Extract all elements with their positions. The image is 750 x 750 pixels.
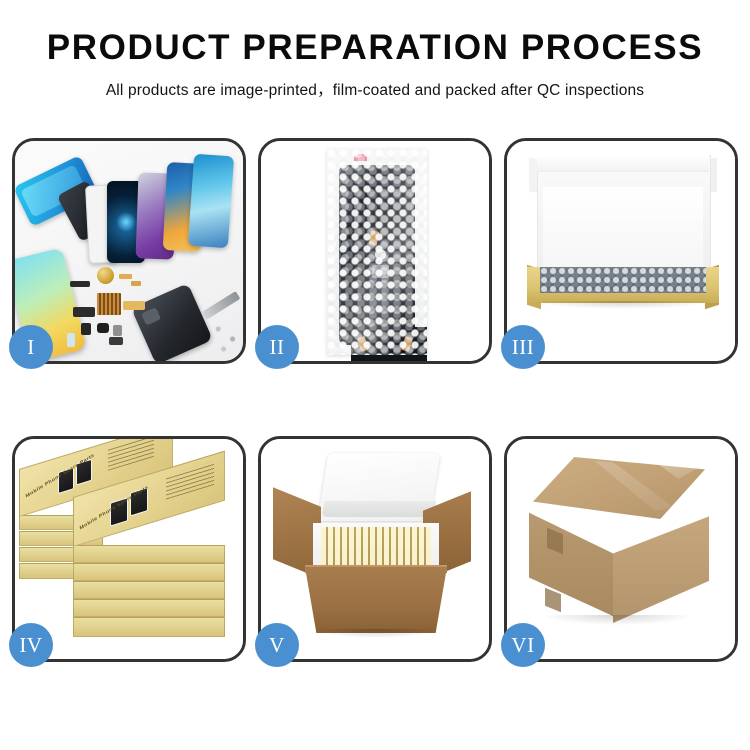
- page-title: PRODUCT PREPARATION PROCESS: [0, 30, 750, 67]
- part-ribbon-cable: [123, 301, 145, 310]
- step-card-2: II: [258, 138, 492, 364]
- step-image-2: [261, 141, 489, 361]
- step-badge-5: V: [255, 623, 299, 667]
- carton-body: [305, 567, 447, 633]
- step-badge-6: VI: [501, 623, 545, 667]
- carton-mark-2: [545, 588, 561, 612]
- foam-sheet: [543, 187, 703, 269]
- step-card-1: I: [12, 138, 246, 364]
- step-card-4: Mobile Phone Spare Parts Mobile Phone Sp…: [12, 436, 246, 662]
- part-vibrator: [97, 323, 109, 333]
- carton-shadow: [315, 629, 437, 638]
- screws-group: [211, 317, 243, 357]
- steps-grid: I: [12, 138, 738, 662]
- product-preparation-infographic: PRODUCT PREPARATION PROCESS All products…: [0, 0, 750, 750]
- phone-display-cyan: [188, 154, 234, 249]
- part-flex-small: [131, 281, 141, 286]
- page-subtitle: All products are image-printed，film-coat…: [0, 78, 750, 100]
- part-grid-mesh: [97, 293, 121, 315]
- step-badge-2: II: [255, 325, 299, 369]
- box-layer: [73, 581, 225, 599]
- step-numeral-3: III: [512, 335, 534, 360]
- part-button: [113, 325, 122, 336]
- box-spec-lines: [108, 439, 154, 471]
- step-image-5: [261, 439, 489, 659]
- step-numeral-2: II: [270, 335, 285, 360]
- step-badge-1: I: [9, 325, 53, 369]
- packed-boxes-edges: [321, 527, 431, 567]
- step-numeral-4: IV: [19, 633, 42, 658]
- step-numeral-5: V: [269, 633, 285, 658]
- box-layer: [73, 545, 225, 563]
- carton-shadow: [543, 615, 693, 625]
- box-lid-edge: [537, 155, 709, 172]
- part-camera: [81, 323, 91, 335]
- bubble-wrap-package: [327, 149, 427, 355]
- part-chip-small: [109, 337, 123, 345]
- part-connector: [70, 281, 90, 287]
- step-badge-4: IV: [9, 623, 53, 667]
- step-numeral-1: I: [27, 335, 35, 360]
- step-numeral-6: VI: [511, 633, 534, 658]
- screwdriver-tool: [202, 291, 241, 320]
- step-badge-3: III: [501, 325, 545, 369]
- box-layer: [73, 599, 225, 617]
- step-image-3: [507, 141, 735, 361]
- box-layer: [73, 617, 225, 637]
- plastic-sheen: [327, 149, 427, 355]
- phone-back-housing: [131, 283, 213, 361]
- step-image-6: [507, 439, 735, 659]
- part-module-black: [73, 307, 95, 317]
- part-sim-tray: [67, 333, 75, 347]
- carton-face-left: [529, 501, 615, 617]
- step-image-1: [15, 141, 243, 361]
- step-card-6: VI: [504, 436, 738, 662]
- bubble-wrapped-items: [540, 267, 706, 293]
- box-shadow: [537, 301, 709, 309]
- speaker-component: [97, 267, 114, 284]
- header: PRODUCT PREPARATION PROCESS All products…: [0, 0, 750, 100]
- step-image-4: Mobile Phone Spare Parts Mobile Phone Sp…: [15, 439, 243, 659]
- step-card-3: III: [504, 138, 738, 364]
- foam-lid-edge: [322, 501, 437, 517]
- step-card-5: V: [258, 436, 492, 662]
- box-spec-lines: [166, 461, 214, 500]
- box-layer: [73, 563, 225, 581]
- part-flex-gold: [119, 274, 132, 279]
